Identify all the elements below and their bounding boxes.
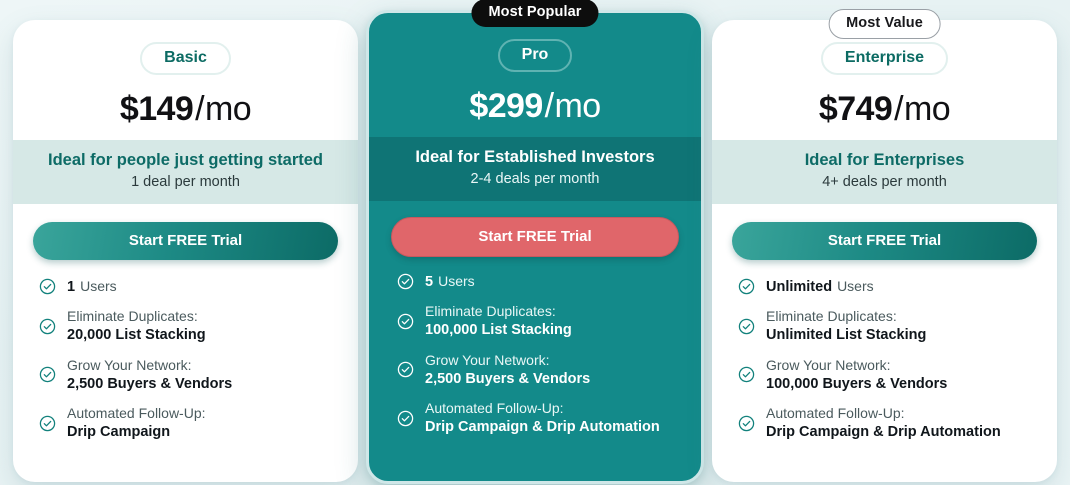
pricing-table: Basic $149/mo Ideal for people just gett… — [0, 0, 1070, 485]
feature-label: Grow Your Network: — [67, 357, 232, 375]
feature-list-basic: 1 Users Eliminate Duplicates: 20,000 Lis… — [13, 266, 358, 482]
check-circle-icon — [738, 366, 755, 383]
feature-item: Automated Follow-Up: Drip Campaign — [39, 405, 336, 441]
start-free-trial-button-basic[interactable]: Start FREE Trial — [33, 222, 338, 260]
price-period-basic: mo — [205, 90, 251, 128]
feature-label: Eliminate Duplicates: — [67, 308, 206, 326]
tagline-band-basic: Ideal for people just getting started 1 … — [13, 140, 358, 204]
feature-value: 1 — [67, 278, 75, 297]
feature-label: Automated Follow-Up: — [425, 400, 660, 418]
feature-text: Automated Follow-Up: Drip Campaign — [67, 405, 206, 441]
tagline-band-enterprise: Ideal for Enterprises 4+ deals per month — [712, 140, 1057, 204]
feature-item: Eliminate Duplicates: Unlimited List Sta… — [738, 308, 1035, 344]
tagline-main-basic: Ideal for people just getting started — [23, 151, 348, 170]
feature-value: 2,500 Buyers & Vendors — [67, 375, 232, 394]
price-pro: $299/mo — [369, 89, 701, 123]
feature-label: Users — [438, 273, 475, 291]
feature-label: Grow Your Network: — [425, 352, 590, 370]
feature-label: Automated Follow-Up: — [766, 405, 1001, 423]
feature-text: Eliminate Duplicates: 20,000 List Stacki… — [67, 308, 206, 344]
tagline-sub-enterprise: 4+ deals per month — [722, 174, 1047, 191]
cta-zone-pro: Start FREE Trial — [369, 201, 701, 263]
feature-item: Unlimited Users — [738, 278, 1035, 297]
price-period-enterprise: mo — [904, 90, 950, 128]
feature-item: Grow Your Network: 2,500 Buyers & Vendor… — [397, 352, 679, 388]
cta-zone-basic: Start FREE Trial — [13, 204, 358, 266]
check-circle-icon — [397, 410, 414, 427]
feature-text: Automated Follow-Up: Drip Campaign & Dri… — [766, 405, 1001, 441]
check-circle-icon — [397, 273, 414, 290]
feature-text: Eliminate Duplicates: Unlimited List Sta… — [766, 308, 926, 344]
feature-value: Drip Campaign — [67, 423, 206, 442]
check-circle-icon — [39, 366, 56, 383]
check-circle-icon — [738, 318, 755, 335]
price-slash-enterprise: / — [894, 90, 903, 128]
feature-text: 5 Users — [425, 273, 475, 292]
feature-value: Drip Campaign & Drip Automation — [425, 418, 660, 437]
cta-zone-enterprise: Start FREE Trial — [712, 204, 1057, 266]
feature-item: Grow Your Network: 2,500 Buyers & Vendor… — [39, 357, 336, 393]
feature-item: Eliminate Duplicates: 20,000 List Stacki… — [39, 308, 336, 344]
pricing-card-basic-body: Basic $149/mo Ideal for people just gett… — [13, 20, 358, 482]
check-circle-icon — [39, 318, 56, 335]
feature-value: 100,000 List Stacking — [425, 321, 572, 340]
tagline-main-pro: Ideal for Established Investors — [379, 148, 691, 167]
check-circle-icon — [397, 361, 414, 378]
pricing-card-pro-body: Pro $299/mo Ideal for Established Invest… — [366, 10, 704, 484]
feature-label: Users — [80, 278, 117, 296]
feature-text: 1 Users — [67, 278, 117, 297]
most-value-badge: Most Value — [828, 9, 941, 39]
feature-label: Users — [837, 278, 874, 296]
feature-label: Grow Your Network: — [766, 357, 947, 375]
feature-item: Automated Follow-Up: Drip Campaign & Dri… — [738, 405, 1035, 441]
pricing-card-enterprise: Most Value Enterprise $749/mo Ideal for … — [712, 20, 1057, 482]
check-circle-icon — [738, 415, 755, 432]
price-amount-enterprise: $749 — [819, 90, 892, 128]
feature-label: Eliminate Duplicates: — [425, 303, 572, 321]
feature-value: Unlimited — [766, 278, 832, 297]
price-enterprise: $749/mo — [712, 92, 1057, 126]
check-circle-icon — [738, 278, 755, 295]
tagline-sub-basic: 1 deal per month — [23, 174, 348, 191]
feature-item: Eliminate Duplicates: 100,000 List Stack… — [397, 303, 679, 339]
feature-value: 2,500 Buyers & Vendors — [425, 370, 590, 389]
price-slash-pro: / — [545, 87, 554, 125]
plan-name-pill-pro: Pro — [498, 39, 573, 72]
feature-list-pro: 5 Users Eliminate Duplicates: 100,000 Li… — [369, 263, 701, 481]
plan-name-pill-basic: Basic — [140, 42, 231, 75]
tagline-sub-pro: 2-4 deals per month — [379, 171, 691, 188]
check-circle-icon — [39, 415, 56, 432]
feature-item: Automated Follow-Up: Drip Campaign & Dri… — [397, 400, 679, 436]
feature-label: Eliminate Duplicates: — [766, 308, 926, 326]
tagline-main-enterprise: Ideal for Enterprises — [722, 151, 1047, 170]
feature-value: Drip Campaign & Drip Automation — [766, 423, 1001, 442]
feature-list-enterprise: Unlimited Users Eliminate Duplicates: Un… — [712, 266, 1057, 482]
plan-name-pill-enterprise: Enterprise — [821, 42, 948, 75]
pricing-card-pro-header: Pro $299/mo — [369, 13, 701, 137]
feature-label: Automated Follow-Up: — [67, 405, 206, 423]
pricing-card-pro: Most Popular Pro $299/mo Ideal for Estab… — [366, 10, 704, 484]
start-free-trial-button-pro[interactable]: Start FREE Trial — [391, 217, 679, 257]
feature-value: 5 — [425, 273, 433, 292]
pricing-card-basic-header: Basic $149/mo — [13, 20, 358, 140]
start-free-trial-button-enterprise[interactable]: Start FREE Trial — [732, 222, 1037, 260]
price-period-pro: mo — [555, 87, 601, 125]
feature-value: 100,000 Buyers & Vendors — [766, 375, 947, 394]
price-amount-pro: $299 — [469, 87, 542, 125]
feature-text: Grow Your Network: 2,500 Buyers & Vendor… — [425, 352, 590, 388]
pricing-card-enterprise-body: Enterprise $749/mo Ideal for Enterprises… — [712, 20, 1057, 482]
feature-item: Grow Your Network: 100,000 Buyers & Vend… — [738, 357, 1035, 393]
feature-value: 20,000 List Stacking — [67, 326, 206, 345]
feature-text: Eliminate Duplicates: 100,000 List Stack… — [425, 303, 572, 339]
feature-item: 5 Users — [397, 273, 679, 292]
price-basic: $149/mo — [13, 92, 358, 126]
check-circle-icon — [397, 313, 414, 330]
feature-text: Unlimited Users — [766, 278, 874, 297]
feature-item: 1 Users — [39, 278, 336, 297]
most-popular-badge: Most Popular — [471, 0, 598, 27]
price-slash-basic: / — [195, 90, 204, 128]
price-amount-basic: $149 — [120, 90, 193, 128]
pricing-card-basic: Basic $149/mo Ideal for people just gett… — [13, 20, 358, 482]
feature-value: Unlimited List Stacking — [766, 326, 926, 345]
feature-text: Automated Follow-Up: Drip Campaign & Dri… — [425, 400, 660, 436]
check-circle-icon — [39, 278, 56, 295]
tagline-band-pro: Ideal for Established Investors 2-4 deal… — [369, 137, 701, 201]
feature-text: Grow Your Network: 100,000 Buyers & Vend… — [766, 357, 947, 393]
feature-text: Grow Your Network: 2,500 Buyers & Vendor… — [67, 357, 232, 393]
